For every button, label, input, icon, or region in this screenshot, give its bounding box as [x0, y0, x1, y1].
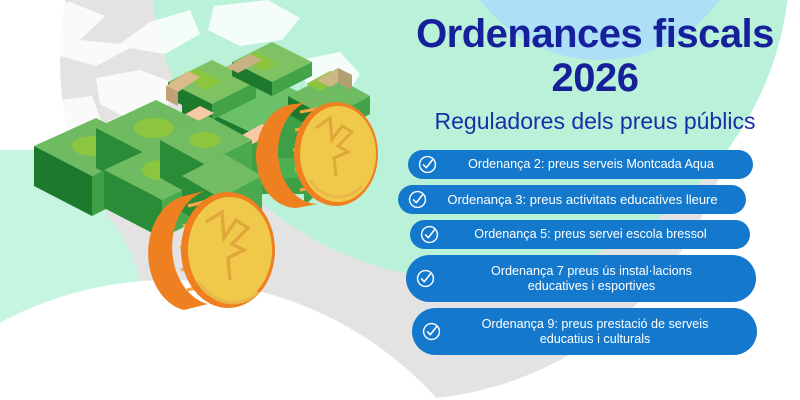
- title-line-1: Ordenances fiscals: [416, 12, 774, 56]
- check-circle-icon: [422, 322, 441, 341]
- gold-coin-left: [148, 190, 275, 310]
- list-item-label: Ordenança 7 preus ús instal·lacions educ…: [441, 264, 742, 294]
- list-item[interactable]: Ordenança 3: preus activitats educatives…: [398, 185, 746, 214]
- money-illustration-svg: [0, 0, 400, 400]
- list-item-label: Ordenança 3: preus activitats educatives…: [433, 192, 732, 207]
- list-item[interactable]: Ordenança 2: preus serveis Montcada Aqua: [408, 150, 753, 179]
- money-illustration: [0, 0, 400, 400]
- check-circle-icon: [418, 155, 437, 174]
- list-item[interactable]: Ordenança 9: preus prestació de serveis …: [412, 308, 757, 355]
- gold-coin-right: [256, 100, 378, 208]
- list-item-label: Ordenança 5: preus servei escola bressol: [445, 227, 736, 242]
- list-item[interactable]: Ordenança 7 preus ús instal·lacions educ…: [406, 255, 756, 302]
- title-line-2: 2026: [390, 56, 800, 100]
- page-subtitle: Reguladores dels preus públics: [390, 108, 800, 135]
- check-circle-icon: [408, 190, 427, 209]
- poster: Ordenances fiscals 2026 Reguladores dels…: [0, 0, 800, 400]
- list-item-label: Ordenança 2: preus serveis Montcada Aqua: [443, 157, 739, 172]
- page-title: Ordenances fiscals 2026: [390, 12, 800, 100]
- check-circle-icon: [420, 225, 439, 244]
- content-column: Ordenances fiscals 2026 Reguladores dels…: [390, 0, 800, 400]
- list-item[interactable]: Ordenança 5: preus servei escola bressol: [410, 220, 750, 249]
- check-circle-icon: [416, 269, 435, 288]
- ordinance-list: Ordenança 2: preus serveis Montcada Aqua…: [390, 150, 800, 361]
- list-item-label: Ordenança 9: preus prestació de serveis …: [447, 317, 743, 347]
